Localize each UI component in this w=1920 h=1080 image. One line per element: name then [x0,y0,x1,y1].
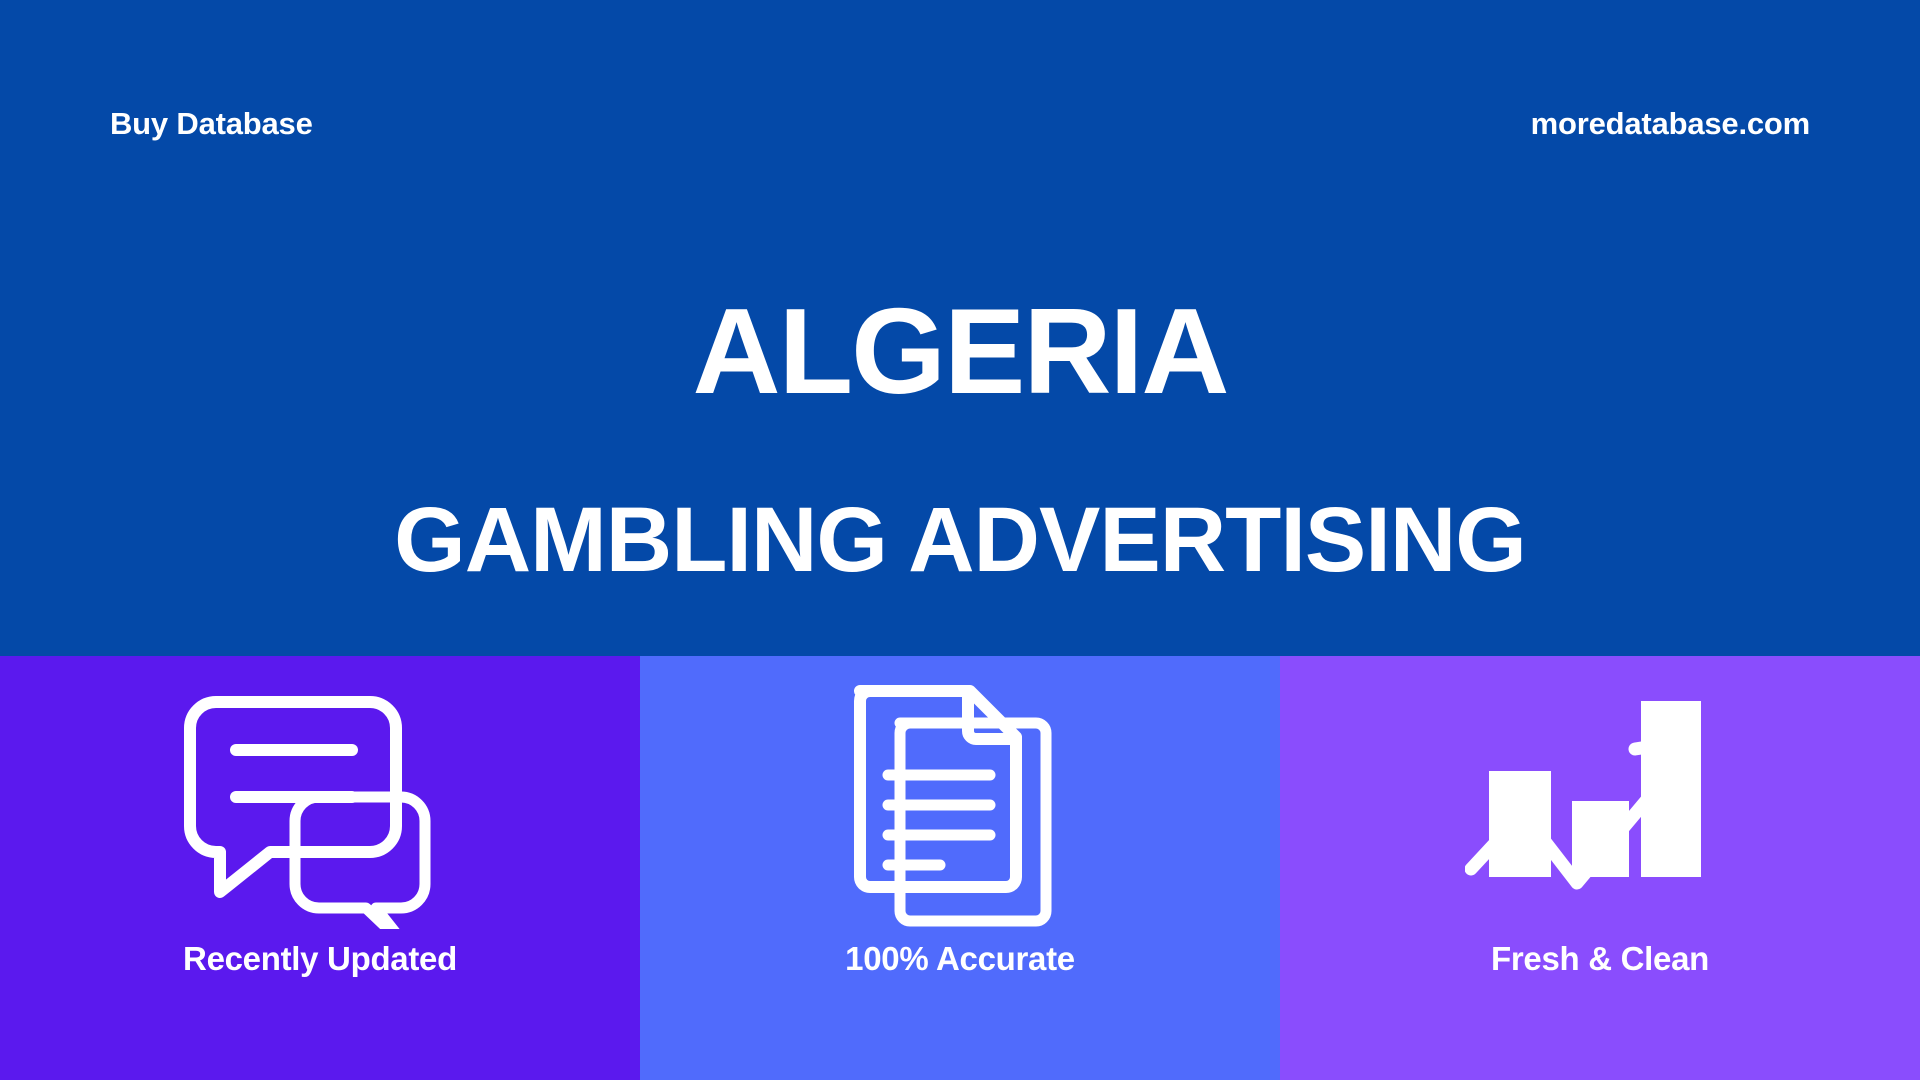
brand-label: Buy Database [110,106,313,142]
page-title: ALGERIA [0,290,1920,412]
documents-icon [840,686,1080,926]
feature-panel-label: Recently Updated [183,940,457,978]
banner-header: Buy Database moredatabase.com ALGERIA GA… [0,0,1920,656]
site-domain-label: moredatabase.com [1531,106,1810,142]
feature-panel-fresh-clean: Fresh & Clean [1280,656,1920,1080]
feature-panel-recently-updated: Recently Updated [0,656,640,1080]
promo-banner: Buy Database moredatabase.com ALGERIA GA… [0,0,1920,1080]
feature-panel-label: Fresh & Clean [1491,940,1709,978]
brand-row: Buy Database moredatabase.com [0,106,1920,142]
growth-chart-icon [1465,686,1735,926]
chat-bubbles-icon [180,686,460,926]
title-block: ALGERIA GAMBLING ADVERTISING [0,290,1920,586]
page-subtitle: GAMBLING ADVERTISING [0,494,1920,586]
feature-panel-accurate: 100% Accurate [640,656,1280,1080]
feature-panel-label: 100% Accurate [845,940,1075,978]
feature-panels: Recently Updated 100% Accurate [0,656,1920,1080]
